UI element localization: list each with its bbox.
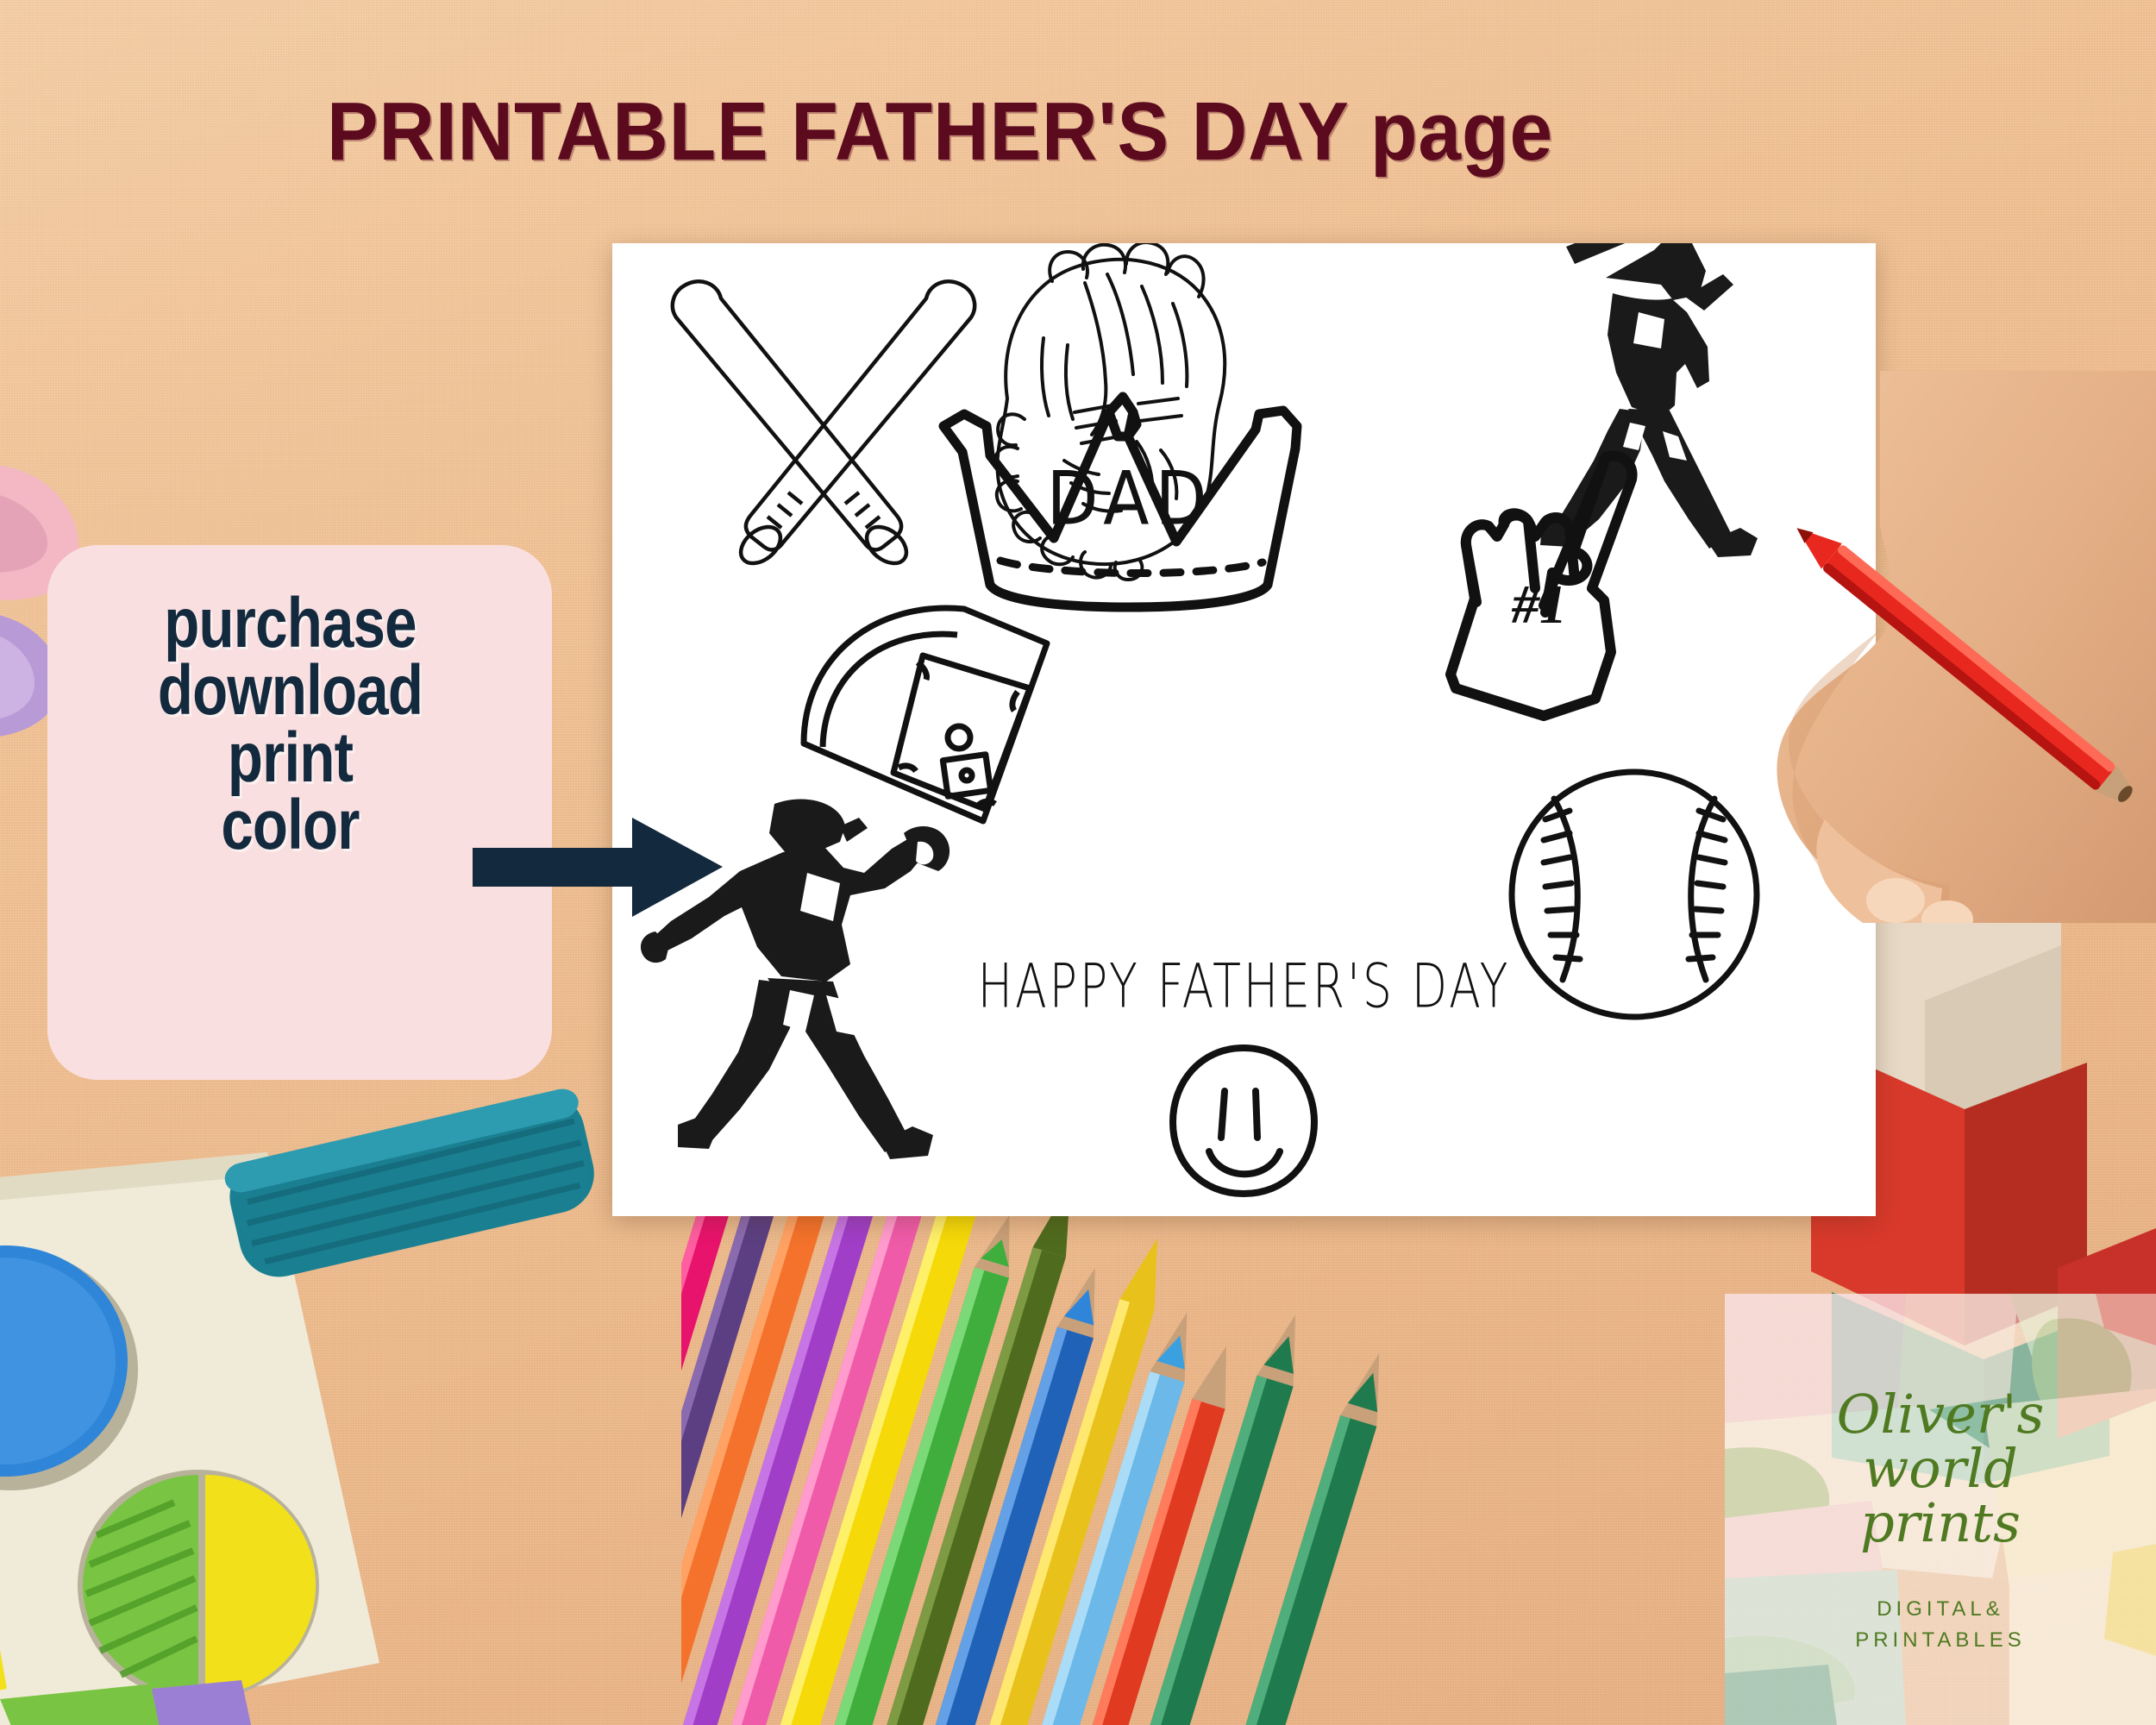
cta-badge[interactable]: purchase download print color	[47, 545, 552, 1080]
red-colored-pencil	[1742, 483, 2156, 845]
watermark-logo: Oliver's world prints DIGITAL& PRINTABLE…	[1725, 1294, 2156, 1725]
cta-line-print: print	[91, 724, 490, 792]
watermark-line-3: prints	[1725, 1496, 2156, 1550]
page-title: PRINTABLE FATHER'S DAY page	[66, 85, 1814, 179]
smiley-face-icon	[1166, 1041, 1321, 1201]
watermark-line-1: Oliver's	[1725, 1387, 2156, 1441]
cta-line-download: download	[91, 657, 490, 724]
right-arrow-icon	[473, 818, 723, 917]
greeting-text: HAPPY FATHER'S DAY	[637, 952, 1850, 1022]
cta-line-purchase: purchase	[91, 590, 490, 657]
teal-modeling-clay	[216, 1074, 604, 1315]
watermark-subtitle-line-1: DIGITAL&	[1725, 1594, 2156, 1625]
watermark-subtitle-line-2: PRINTABLES	[1725, 1625, 2156, 1656]
cta-line-color: color	[91, 792, 490, 859]
crown-dad-label: DAD	[897, 457, 1363, 543]
foam-finger-number-label: #1	[1479, 573, 1600, 637]
watermark-line-2: world	[1725, 1441, 2156, 1496]
colored-pencils-row	[681, 1190, 1802, 1725]
cta-text-block: purchase download print color	[91, 590, 490, 859]
watermark-subtitle: DIGITAL& PRINTABLES	[1725, 1594, 2156, 1656]
watermark-brand: Oliver's world prints	[1725, 1387, 2156, 1551]
